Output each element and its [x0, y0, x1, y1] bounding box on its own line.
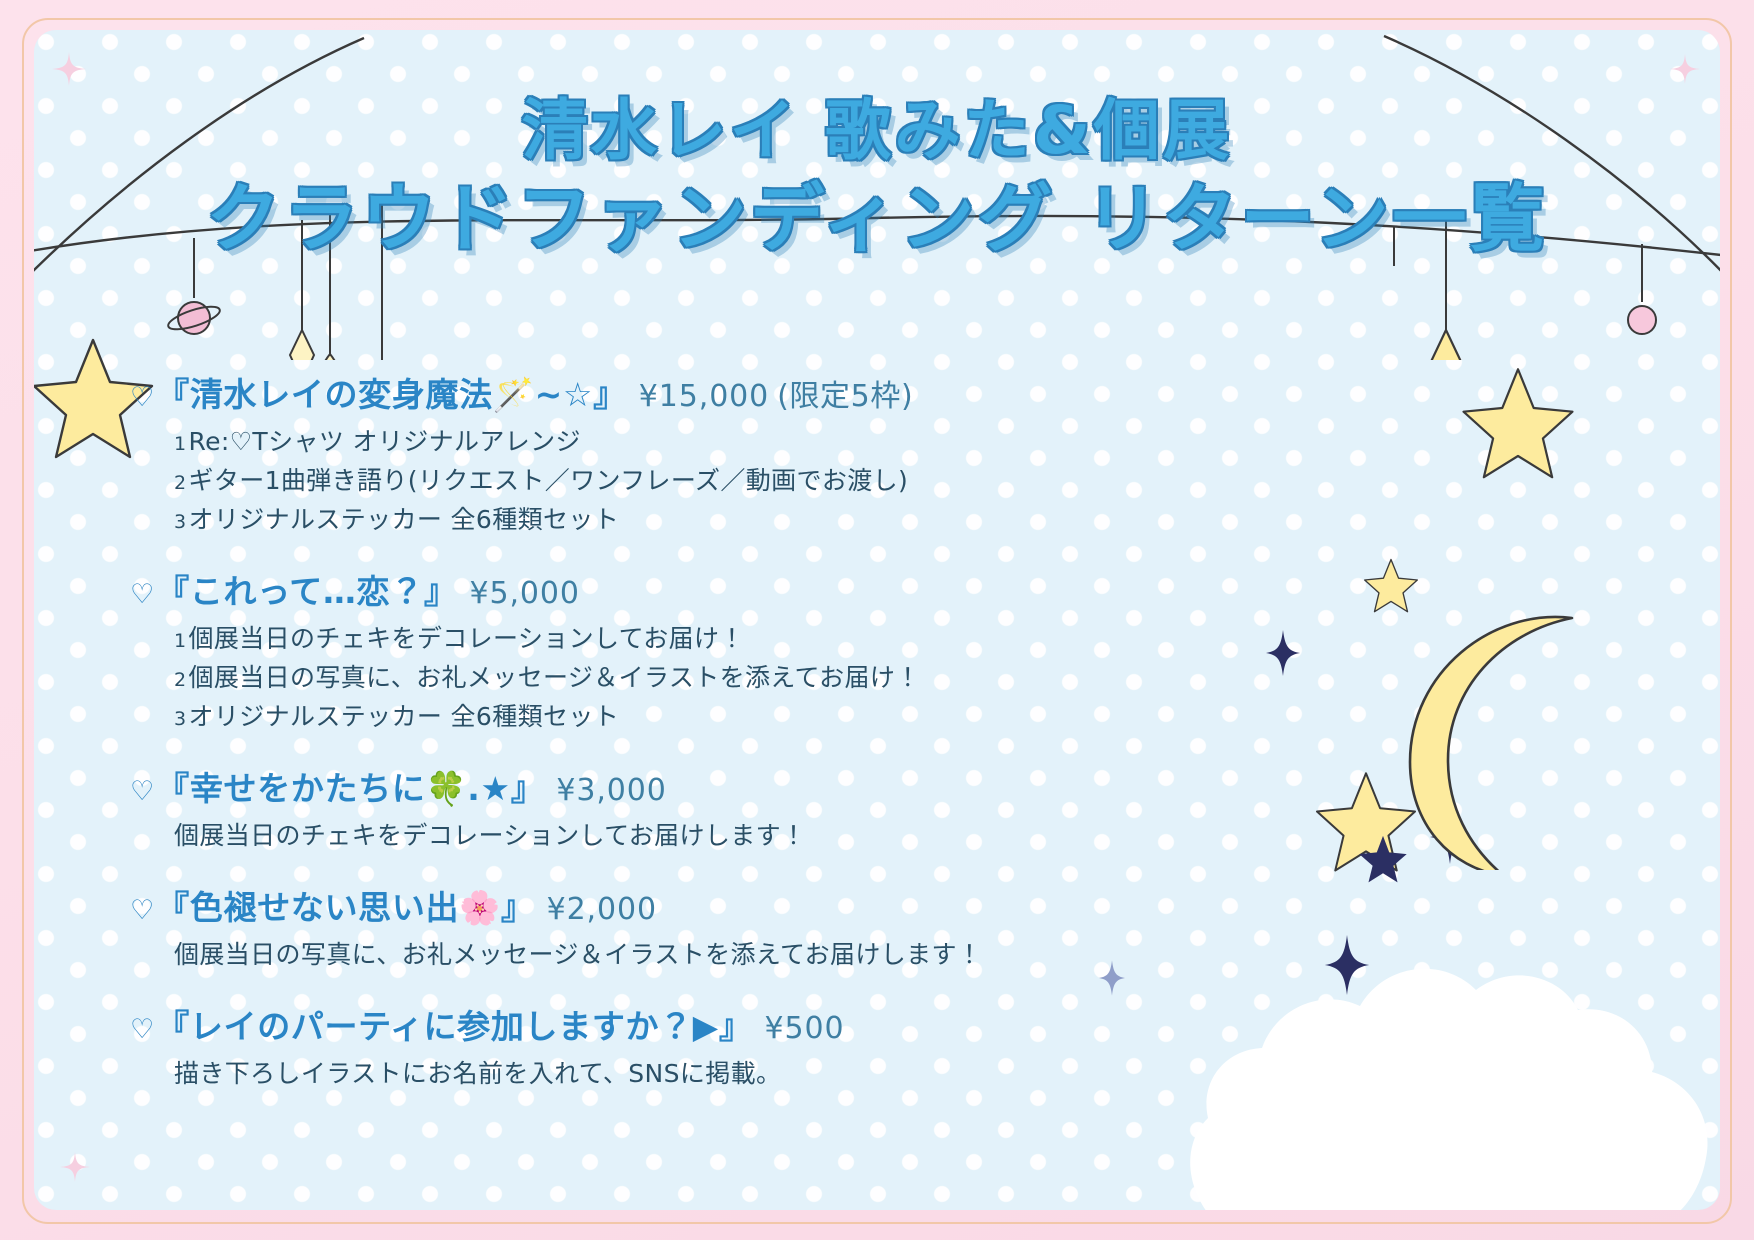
poster-card: 清水レイ 歌みた&個展 クラウドファンディング リターン一覧 [34, 30, 1720, 1210]
star-navy-icon [1356, 830, 1410, 884]
item-text: オリジナルステッカー 全6種類セット [188, 505, 619, 534]
item-number: 3 [174, 511, 186, 533]
corner-sparkle-topleft-icon [52, 52, 86, 86]
reward-tier-3: ♡ 『幸せをかたちに🍀.★』 ¥3,000 個展当日のチェキをデコレーションして… [130, 762, 1310, 855]
item-number: 1 [174, 630, 186, 652]
teardrop-charm-icon [318, 354, 342, 360]
reward-tier-2-price: ¥5,000 [470, 576, 580, 611]
reward-tier-5: ♡ 『レイのパーティに参加しますか？▶』 ¥500 描き下ろしイラストにお名前を… [130, 1000, 1310, 1093]
reward-tier-5-price: ¥500 [765, 1011, 845, 1046]
list-item: 3オリジナルステッカー 全6種類セット [174, 697, 1310, 736]
diamond-charm-icon [290, 330, 314, 360]
item-number: 2 [174, 669, 186, 691]
reward-tier-5-note: 描き下ろしイラストにお名前を入れて、SNSに掲載。 [174, 1054, 1310, 1093]
item-text: オリジナルステッカー 全6種類セット [188, 702, 619, 731]
reward-tier-4-header: ♡ 『色褪せない思い出🌸』 ¥2,000 [130, 881, 1310, 929]
item-number: 2 [174, 472, 186, 494]
reward-tier-5-header: ♡ 『レイのパーティに参加しますか？▶』 ¥500 [130, 1000, 1310, 1048]
corner-sparkle-topright-icon [1670, 54, 1700, 84]
reward-tier-1-title: 『清水レイの変身魔法🪄~☆』 [156, 368, 627, 416]
reward-tier-1-header: ♡ 『清水レイの変身魔法🪄~☆』 ¥15,000 (限定5枠) [130, 368, 1310, 416]
list-item: 2個展当日の写真に、お礼メッセージ＆イラストを添えてお届け！ [174, 658, 1310, 697]
reward-tier-4-title: 『色褪せない思い出🌸』 [156, 881, 534, 929]
reward-tier-5-title: 『レイのパーティに参加しますか？▶』 [156, 1000, 752, 1048]
reward-tier-3-title: 『幸せをかたちに🍀.★』 [156, 762, 544, 810]
reward-tier-3-note: 個展当日のチェキをデコレーションしてお届けします！ [174, 816, 1310, 855]
reward-tier-3-header: ♡ 『幸せをかたちに🍀.★』 ¥3,000 [130, 762, 1310, 810]
reward-tier-1: ♡ 『清水レイの変身魔法🪄~☆』 ¥15,000 (限定5枠) 1Re:♡Tシャ… [130, 368, 1310, 539]
heart-icon: ♡ [130, 384, 154, 411]
heart-icon: ♡ [130, 581, 154, 608]
star-small-icon [1362, 555, 1420, 613]
sparkle-navy-b-icon [1430, 810, 1470, 864]
reward-tier-4: ♡ 『色褪せない思い出🌸』 ¥2,000 個展当日の写真に、お礼メッセージ＆イラ… [130, 881, 1310, 974]
garland-decoration [34, 30, 1720, 360]
item-text: 個展当日のチェキをデコレーションしてお届け！ [188, 624, 744, 653]
reward-tier-1-items: 1Re:♡Tシャツ オリジナルアレンジ 2ギター1曲弾き語り(リクエスト／ワンフ… [174, 422, 1310, 539]
item-text: 個展当日の写真に、お礼メッセージ＆イラストを添えてお届け！ [188, 663, 920, 692]
item-text: Re:♡Tシャツ オリジナルアレンジ [188, 427, 580, 456]
saturn-charm-icon [166, 302, 222, 334]
heart-icon: ♡ [130, 778, 154, 805]
heart-icon: ♡ [130, 897, 154, 924]
reward-tier-1-limit: (限定5枠) [777, 371, 913, 415]
star-charm-title-icon [1388, 330, 1504, 360]
sparkle-navy-c-icon [1324, 935, 1370, 995]
list-item: 1個展当日のチェキをデコレーションしてお届け！ [174, 619, 1310, 658]
reward-tier-1-price: ¥15,000 [639, 379, 769, 414]
item-number: 3 [174, 708, 186, 730]
reward-tier-2: ♡ 『これって…恋？』 ¥5,000 1個展当日のチェキをデコレーションしてお届… [130, 565, 1310, 736]
list-item: 1Re:♡Tシャツ オリジナルアレンジ [174, 422, 1310, 461]
item-number: 1 [174, 433, 186, 455]
crescent-moon-icon [1372, 610, 1602, 870]
star-mid-icon [1312, 765, 1420, 873]
item-text: ギター1曲弾き語り(リクエスト／ワンフレーズ／動画でお渡し) [188, 466, 908, 495]
reward-tier-2-header: ♡ 『これって…恋？』 ¥5,000 [130, 565, 1310, 613]
heart-icon: ♡ [130, 1016, 154, 1043]
pink-bead-charm-icon [1628, 306, 1656, 334]
star-right-icon [1458, 360, 1578, 480]
reward-tier-4-price: ¥2,000 [547, 892, 657, 927]
poster-root: 清水レイ 歌みた&個展 クラウドファンディング リターン一覧 [0, 0, 1754, 1240]
reward-tier-2-items: 1個展当日のチェキをデコレーションしてお届け！ 2個展当日の写真に、お礼メッセー… [174, 619, 1310, 736]
list-item: 2ギター1曲弾き語り(リクエスト／ワンフレーズ／動画でお渡し) [174, 461, 1310, 500]
reward-list: ♡ 『清水レイの変身魔法🪄~☆』 ¥15,000 (限定5枠) 1Re:♡Tシャ… [130, 368, 1310, 1093]
corner-sparkle-bottomleft-icon [60, 1152, 90, 1182]
reward-tier-3-price: ¥3,000 [556, 773, 666, 808]
reward-tier-4-note: 個展当日の写真に、お礼メッセージ＆イラストを添えてお届けします！ [174, 935, 1310, 974]
reward-tier-2-title: 『これって…恋？』 [156, 565, 457, 613]
list-item: 3オリジナルステッカー 全6種類セット [174, 500, 1310, 539]
